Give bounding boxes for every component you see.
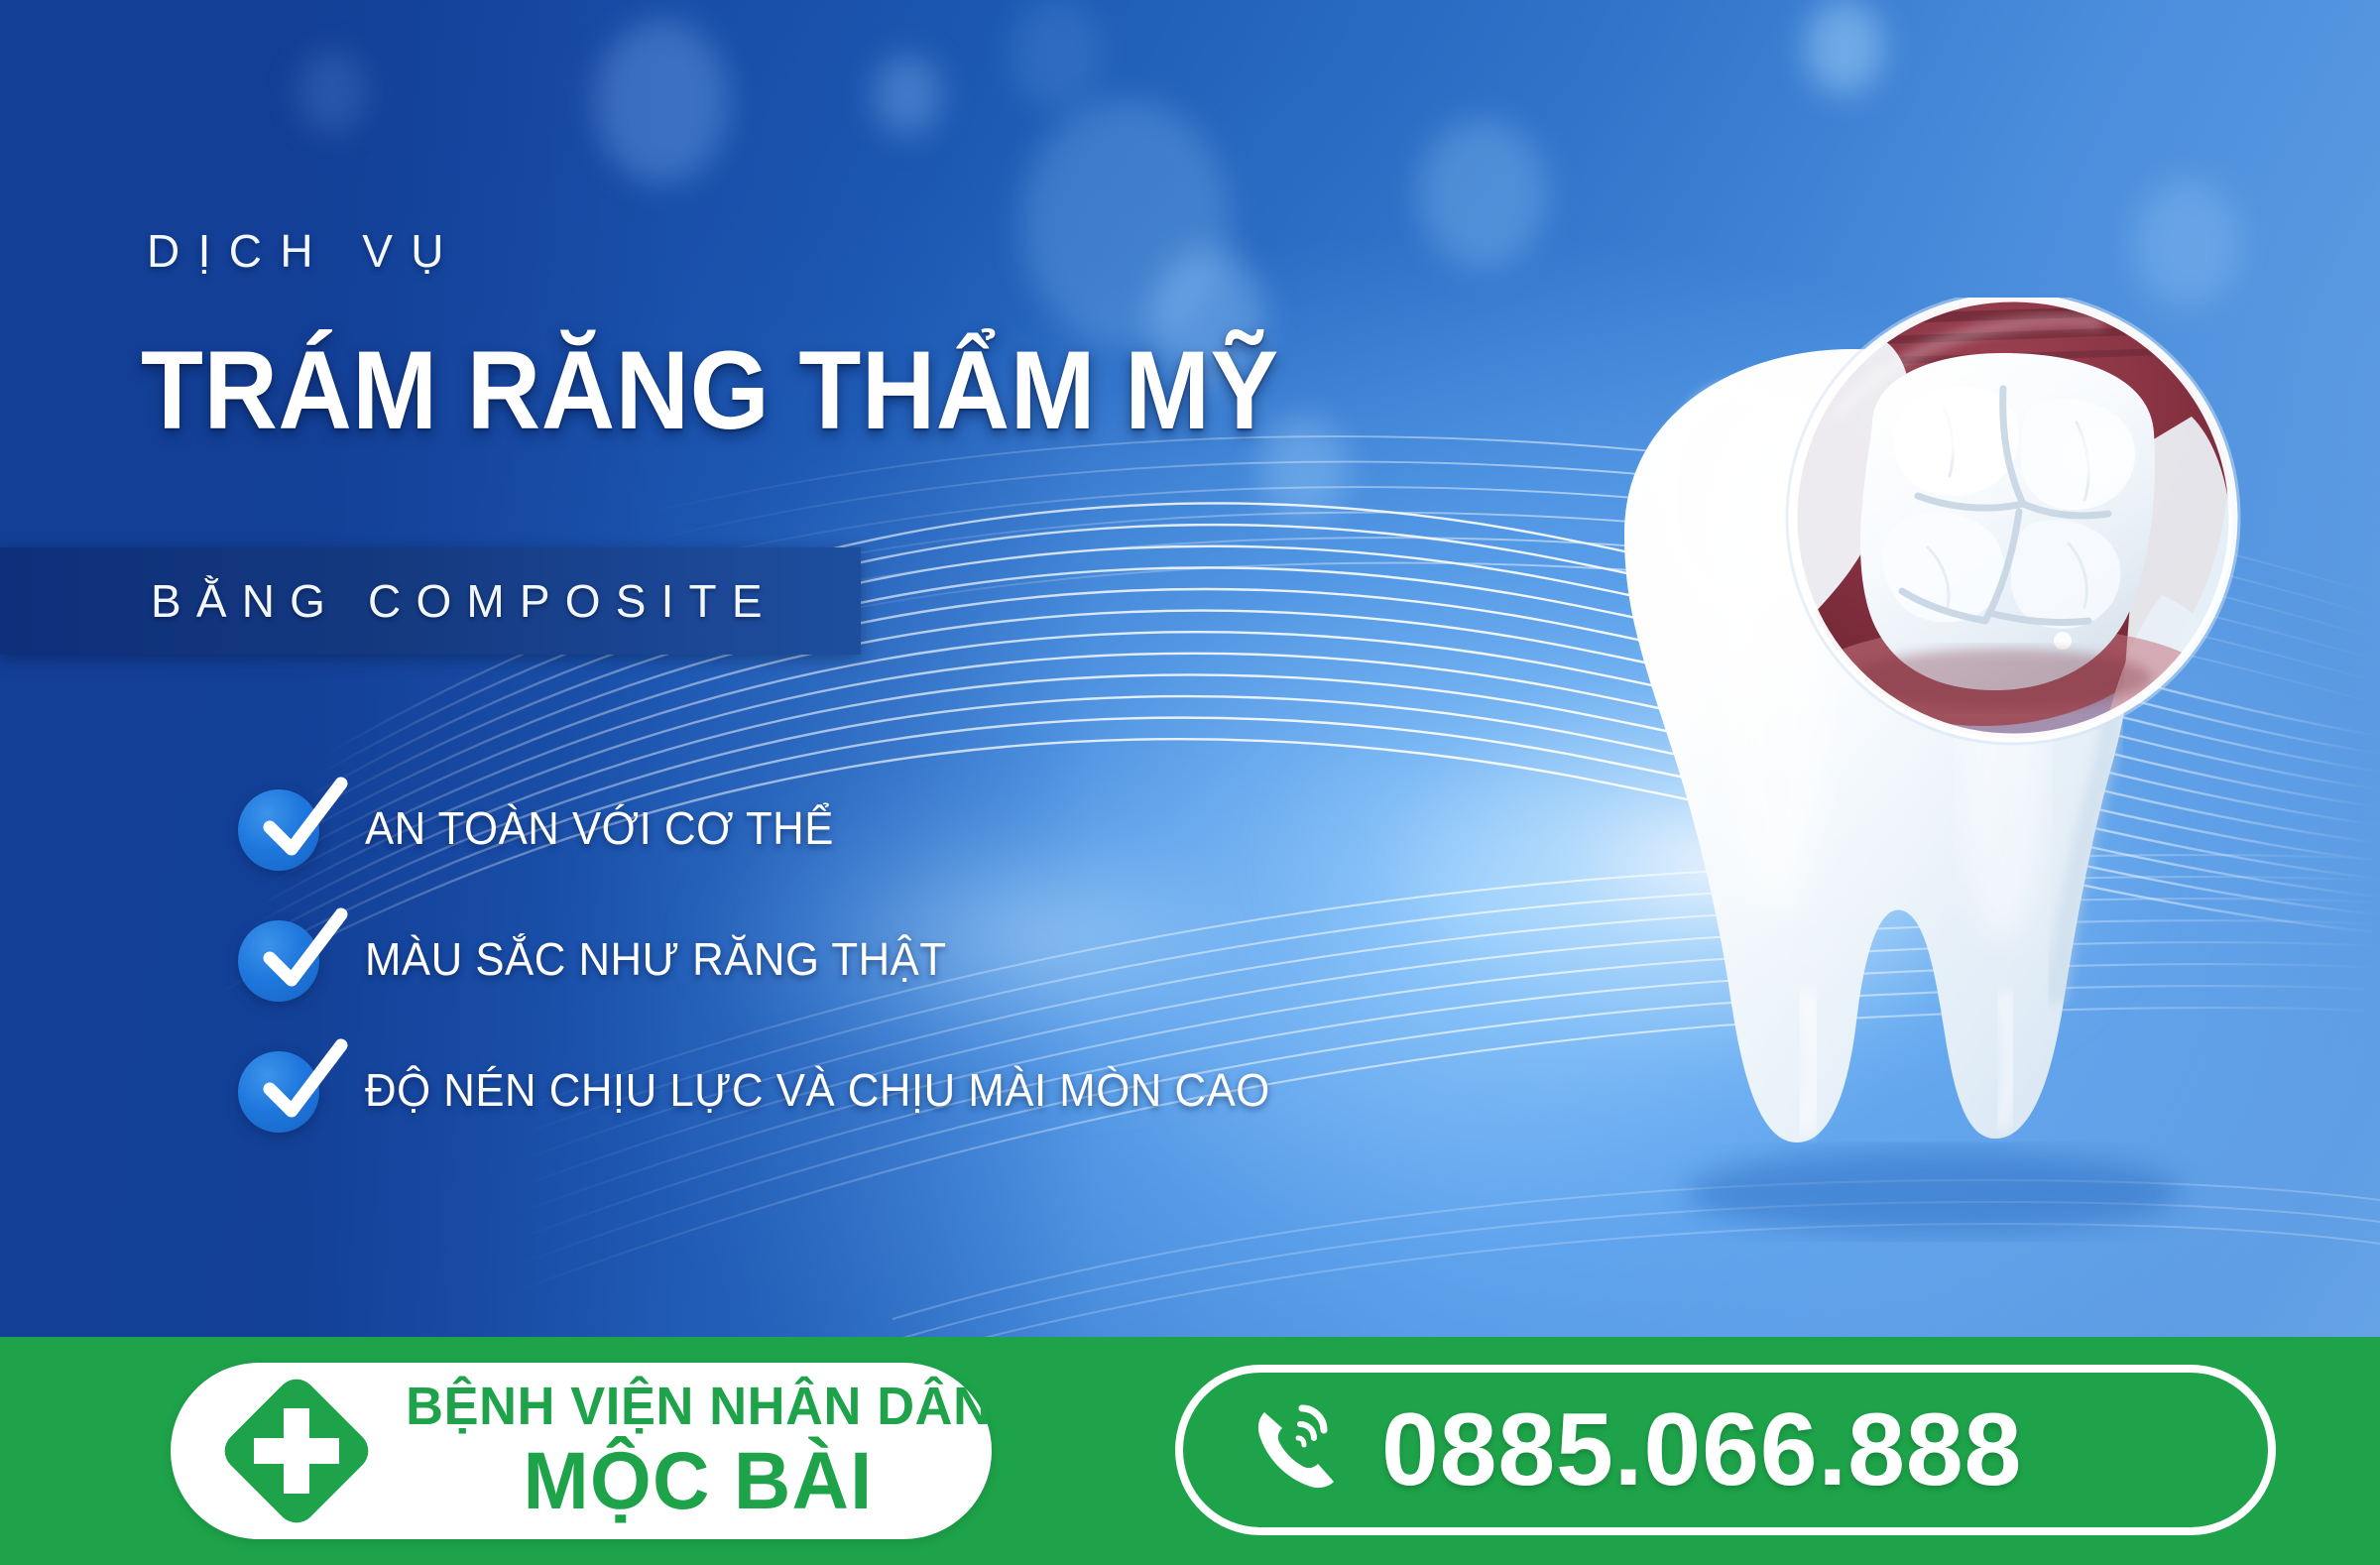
phone-cta[interactable]: 0885.066.888 [1175,1365,2276,1535]
phone-ringing-icon [1245,1398,1348,1502]
list-item: AN TOÀN VỚI CƠ THỂ [238,783,1329,914]
service-kicker: DỊCH VỤ [147,224,462,278]
subtitle-band: BẰNG COMPOSITE [0,547,861,655]
footer-bar: BỆNH VIỆN NHÂN DÂN MỘC BÀI 0885.066.888 [0,1337,2380,1565]
medical-cross-diamond-icon [222,1377,371,1525]
check-circle-icon [238,1051,319,1133]
page-title: TRÁM RĂNG THẨM MỸ [141,335,1279,446]
check-circle-icon [238,920,319,1002]
subtitle-text: BẰNG COMPOSITE [151,574,777,628]
feature-label: ĐỘ NÉN CHỊU LỰC VÀ CHỊU MÀI MÒN CAO [365,1063,1270,1117]
feature-label: MÀU SẮC NHƯ RĂNG THẬT [365,932,947,986]
check-circle-icon [238,789,319,871]
feature-label: AN TOÀN VỚI CƠ THỂ [365,801,834,855]
list-item: ĐỘ NÉN CHỊU LỰC VÀ CHỊU MÀI MÒN CAO [238,1045,1329,1176]
dental-service-banner: DỊCH VỤ TRÁM RĂNG THẨM MỸ BẰNG COMPOSITE… [0,0,2380,1565]
hospital-logo-plaque: BỆNH VIỆN NHÂN DÂN MỘC BÀI [171,1363,992,1539]
hospital-name-line2: MỘC BÀI [524,1441,874,1522]
molar-tooth-illustration [1507,298,2380,1289]
list-item: MÀU SẮC NHƯ RĂNG THẬT [238,914,1329,1045]
phone-number: 0885.066.888 [1381,1398,2022,1502]
feature-list: AN TOÀN VỚI CƠ THỂ MÀU SẮC NHƯ RĂNG THẬT… [238,783,1329,1176]
hospital-name-line1: BỆNH VIỆN NHÂN DÂN [406,1380,991,1433]
hospital-name: BỆNH VIỆN NHÂN DÂN MỘC BÀI [397,1380,1001,1522]
